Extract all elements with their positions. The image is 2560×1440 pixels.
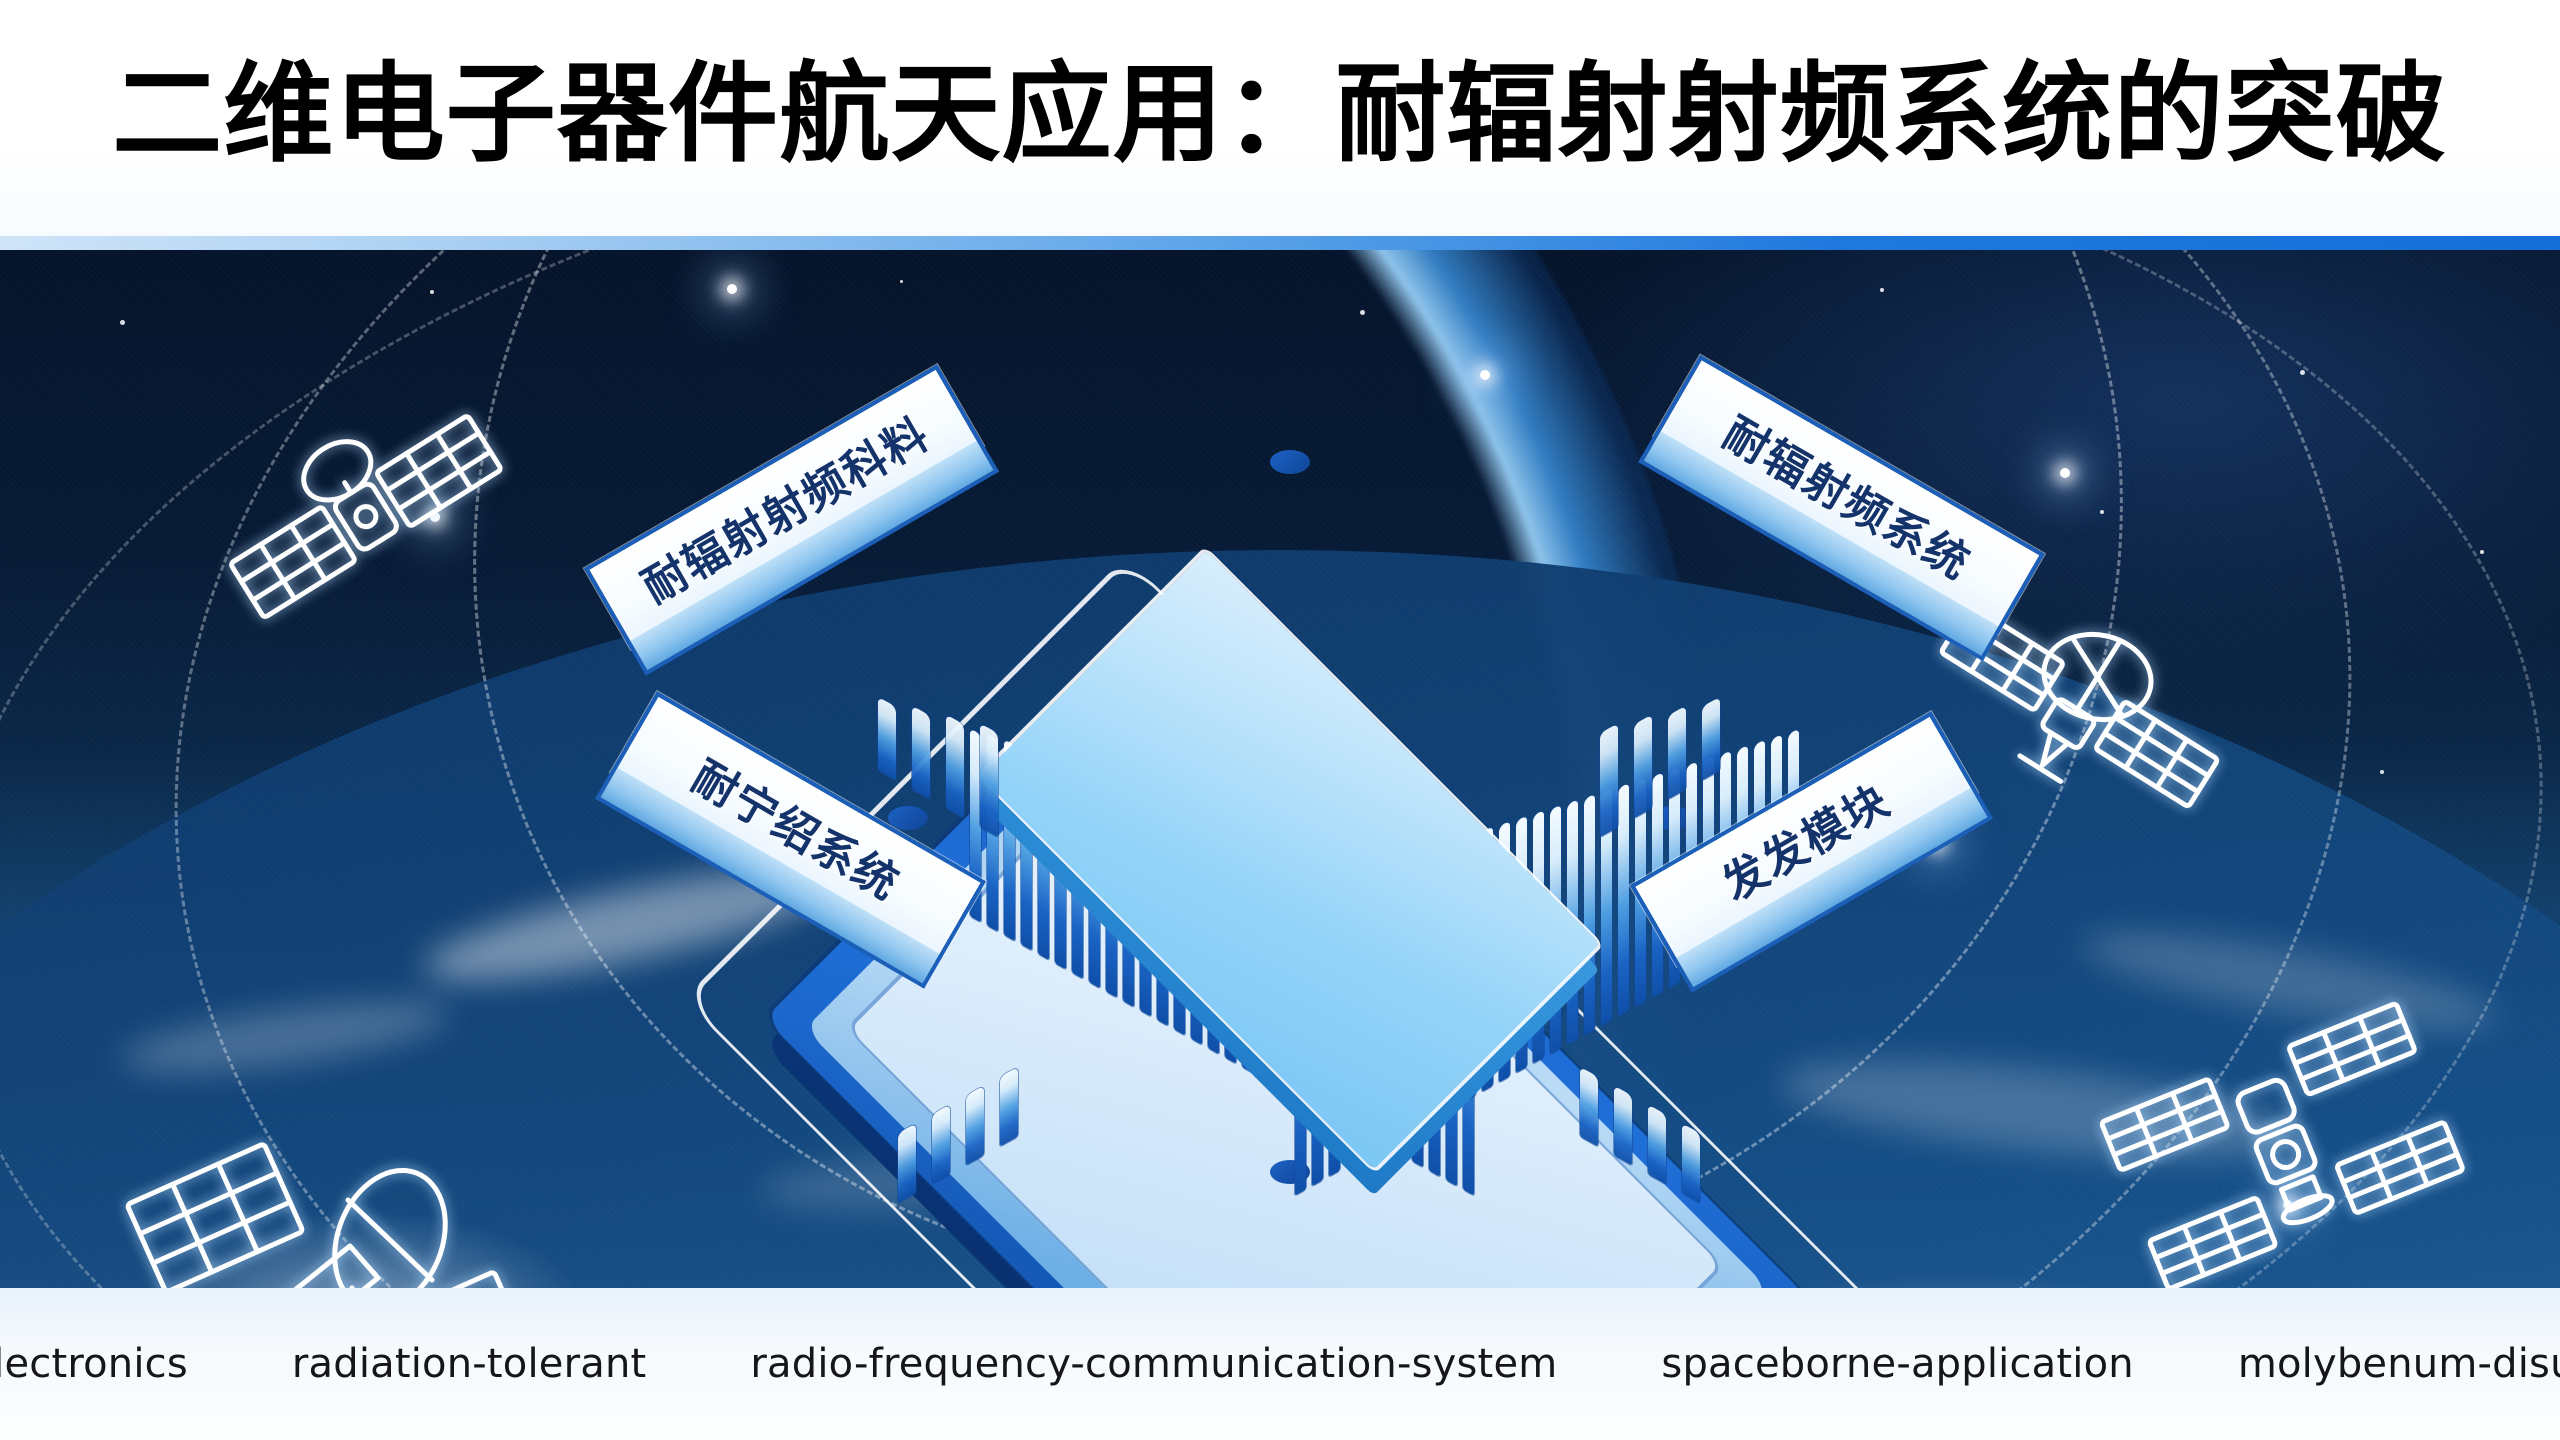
keyword-item: molybenum-disulfide — [2186, 1341, 2560, 1387]
hero-illustration: 耐辐射射频科料 耐辐射频系统 耐宁绍系统 发发 — [0, 250, 2560, 1288]
star — [2480, 550, 2484, 554]
star — [120, 320, 125, 325]
keyword-item: spaceborne-application — [1609, 1341, 2185, 1387]
keyword-item: 2D-electronics — [0, 1341, 240, 1387]
chip-corner-dot — [888, 806, 928, 830]
chip-assembly: 耐辐射射频科料 耐辐射频系统 耐宁绍系统 发发 — [640, 400, 1940, 1230]
title-accent-divider — [0, 236, 2560, 250]
keyword-bar: 2D-electronics radiation-tolerant radio-… — [0, 1288, 2560, 1440]
satellite-icon-lower-left — [120, 1130, 520, 1288]
slide-root: 二维电子器件航天应用：耐辐射射频系统的突破 — [0, 0, 2560, 1440]
callout-radiation-tolerant-rf-material[interactable]: 耐辐射射频科料 — [584, 364, 984, 649]
satellite-icon-right — [2118, 1008, 2448, 1288]
satellite-icon-upper-left — [218, 400, 518, 640]
keyword-item: radiation-tolerant — [240, 1341, 699, 1387]
page-title: 二维电子器件航天应用：耐辐射射频系统的突破 — [113, 61, 2448, 175]
title-band: 二维电子器件航天应用：耐辐射射频系统的突破 — [0, 0, 2560, 236]
keyword-item: radio-frequency-communication-system — [698, 1341, 1609, 1387]
chip-corner-dot — [1270, 450, 1310, 474]
